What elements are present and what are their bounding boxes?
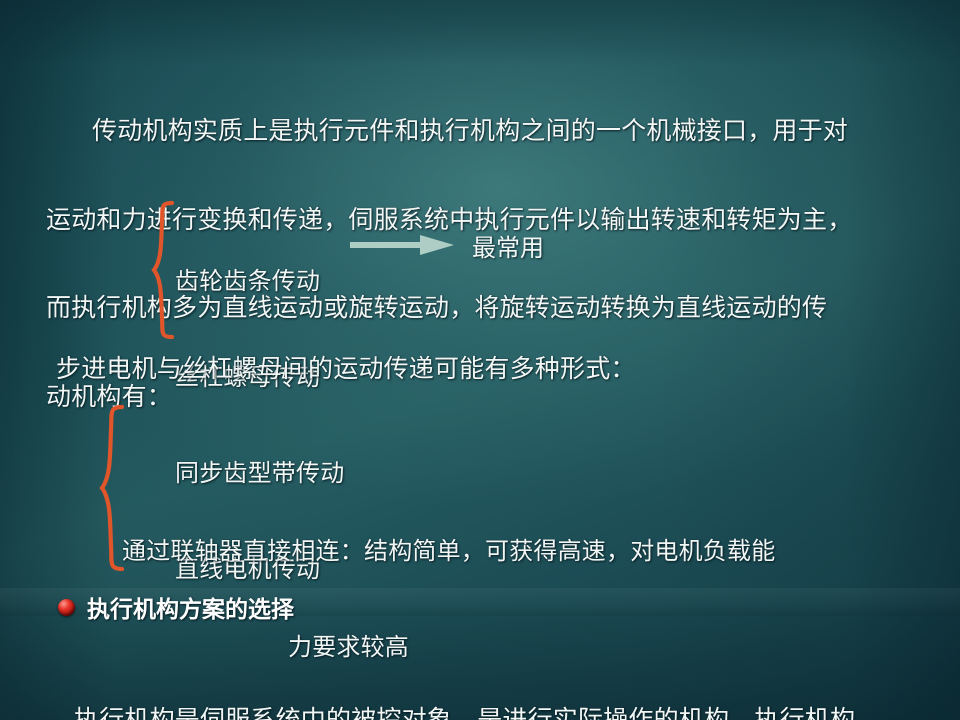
mid-lead-paragraph: 步进电机与丝杠螺母间的运动传递可能有多种形式： [56, 354, 636, 384]
list-item-main: 通过联轴器直接相连：结构简单，可获得高速，对电机负载能 [122, 536, 922, 568]
arrow-right-icon [350, 233, 458, 257]
red-ball-bullet-icon [58, 599, 75, 616]
presentation-slide: 传动机构实质上是执行元件和执行机构之间的一个机械接口，用于对 运动和力进行变换和… [0, 0, 960, 720]
section-heading: 执行机构方案的选择 [58, 590, 294, 624]
intro-line-1: 传动机构实质上是执行元件和执行机构之间的一个机械接口，用于对 [46, 117, 926, 147]
closing-paragraph: 执行机构是伺服系统中的被控对象，是进行实际操作的机构，执行机构 中一般含有导向机… [44, 640, 944, 720]
annotation-label: 最常用 [472, 228, 544, 263]
section-title: 执行机构方案的选择 [87, 590, 294, 624]
most-common-annotation: 最常用 [350, 228, 580, 262]
list-item: 齿轮齿条传动 [175, 266, 344, 298]
closing-line-1: 执行机构是伺服系统中的被控对象，是进行实际操作的机构，执行机构 [44, 704, 944, 720]
